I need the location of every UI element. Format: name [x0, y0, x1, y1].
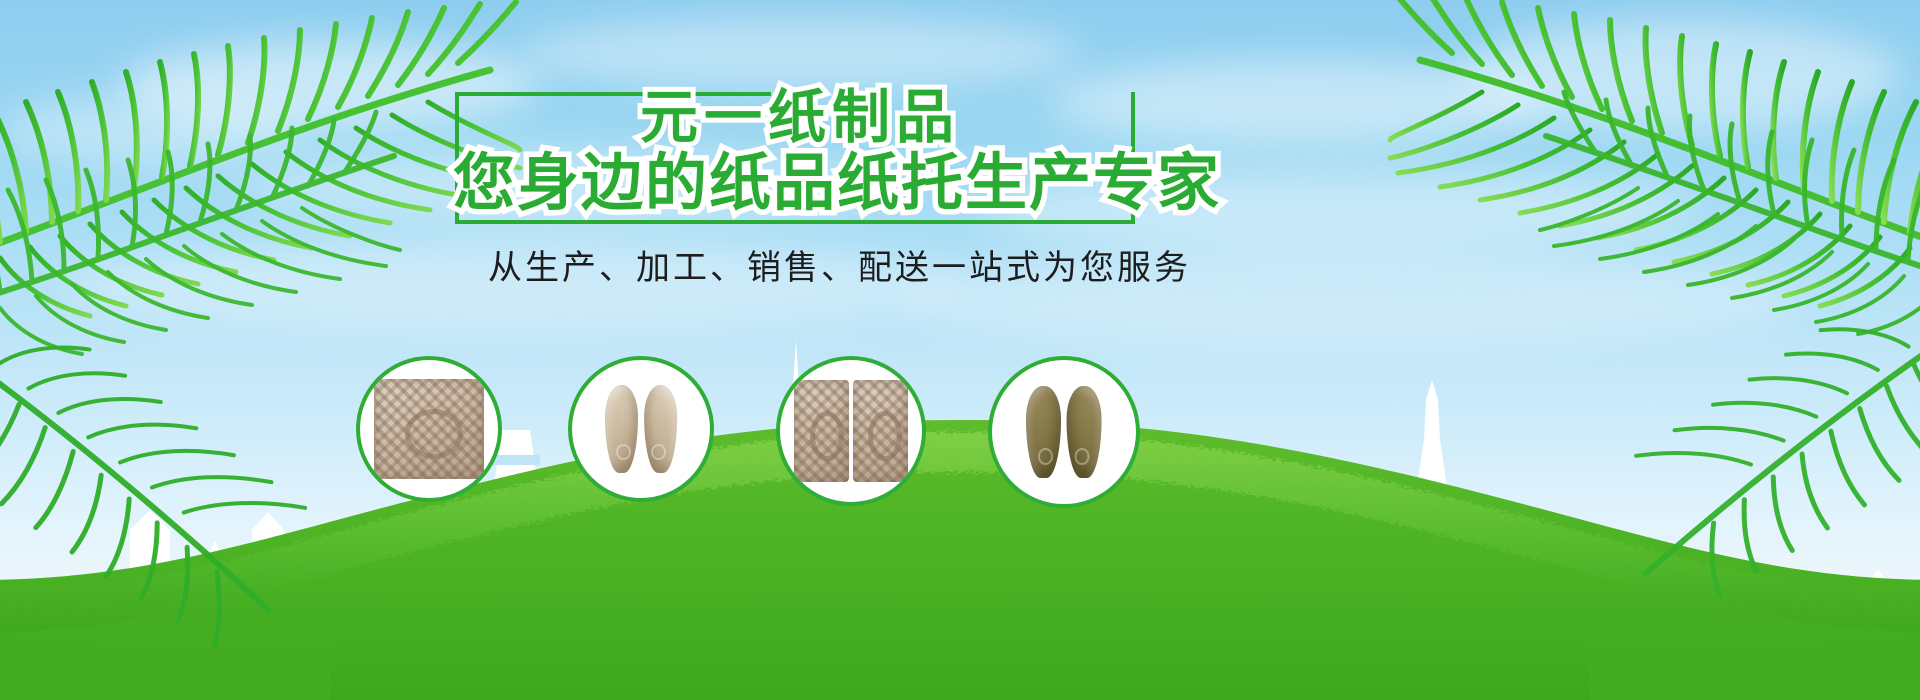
banner-subtitle: 从生产、加工、销售、配送一站式为您服务: [488, 240, 1191, 289]
headline-block: 元一纸制品 您身边的纸品纸托生产专家: [455, 92, 1135, 224]
pulp-tray-icon: [374, 379, 484, 478]
product-circle-4[interactable]: [988, 356, 1140, 508]
cloud: [0, 95, 300, 165]
product-circle-1[interactable]: [356, 356, 502, 502]
promo-banner: 元一纸制品 您身边的纸品纸托生产专家 从生产、加工、销售、配送一站式为您服务: [0, 0, 1920, 700]
headline-line-2: 您身边的纸品纸托生产专家: [453, 132, 1221, 222]
pulp-insole-icon: [1006, 380, 1121, 484]
cloud: [1460, 20, 1900, 130]
product-circle-3[interactable]: [776, 356, 926, 506]
product-circle-2[interactable]: [568, 356, 714, 502]
pulp-insole-icon: [586, 379, 696, 478]
pulp-tray-icon: [794, 380, 908, 482]
